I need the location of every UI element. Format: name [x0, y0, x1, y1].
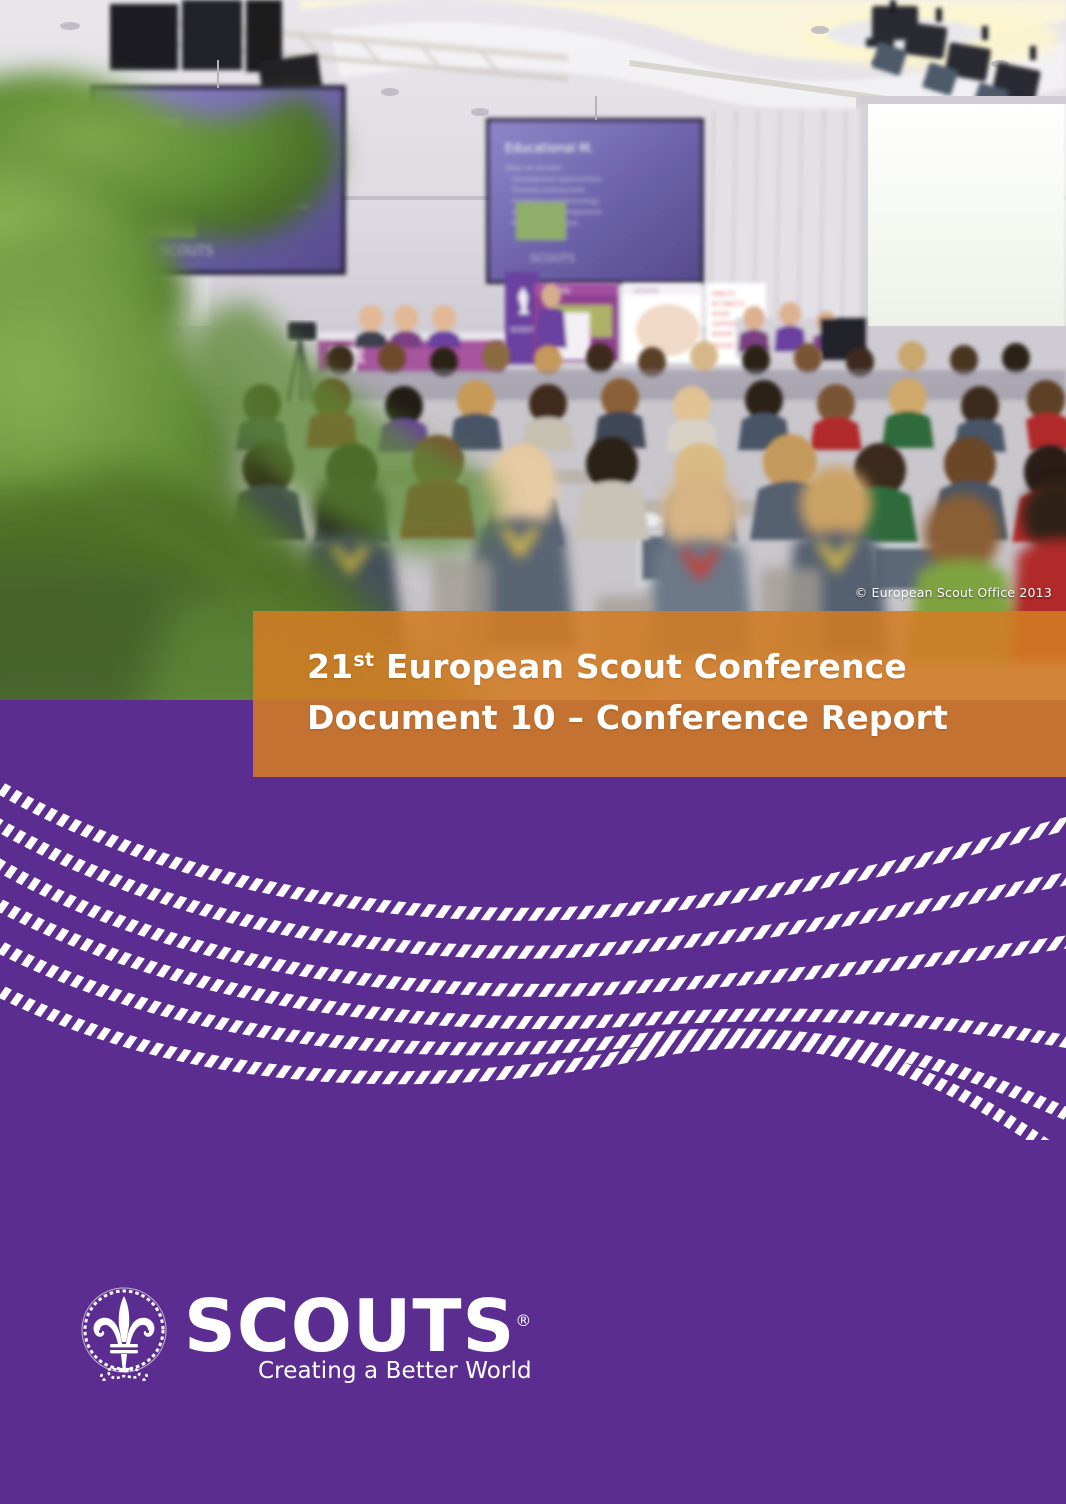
photo-copyright: © European Scout Office 2013 [855, 585, 1052, 600]
svg-text:SCOUTS: SCOUTS [530, 252, 575, 265]
document-cover-page: Méthodes Ce que nous avons décidé · Oppo… [0, 0, 1066, 1504]
svg-text:BY MINUTE: BY MINUTE [712, 301, 745, 308]
svg-text:Educational M.: Educational M. [505, 141, 593, 155]
title-line-2: Document 10 – Conference Report [307, 692, 1066, 743]
wordmark-text: SCOUTS [184, 1284, 515, 1368]
ordinal-suffix: st [353, 649, 374, 671]
scouts-wordmark: SCOUTS® [184, 1288, 532, 1364]
svg-text:HAPPENS: HAPPENS [712, 321, 740, 328]
svg-text:MINUTE: MINUTE [712, 291, 735, 298]
svg-text:SCOUTS: SCOUTS [634, 288, 659, 295]
conference-number: 21 [307, 647, 353, 686]
svg-text:WHEN?: WHEN? [712, 331, 734, 338]
registered-trademark-icon: ® [515, 1311, 532, 1330]
world-scout-emblem-icon [72, 1282, 176, 1386]
svg-text:What we decided: What we decided [505, 164, 561, 172]
svg-text:· Development opportunities: · Development opportunities [508, 175, 602, 183]
scouts-tagline: Creating a Better World [258, 1358, 532, 1384]
title-banner: 21st European Scout Conference Document … [253, 611, 1066, 777]
conference-name: European Scout Conference [374, 647, 907, 686]
svg-text:· Promote existing tools: · Promote existing tools [508, 186, 585, 194]
svg-text:WHAT: WHAT [712, 311, 730, 318]
title-line-1: 21st European Scout Conference [307, 641, 1066, 692]
